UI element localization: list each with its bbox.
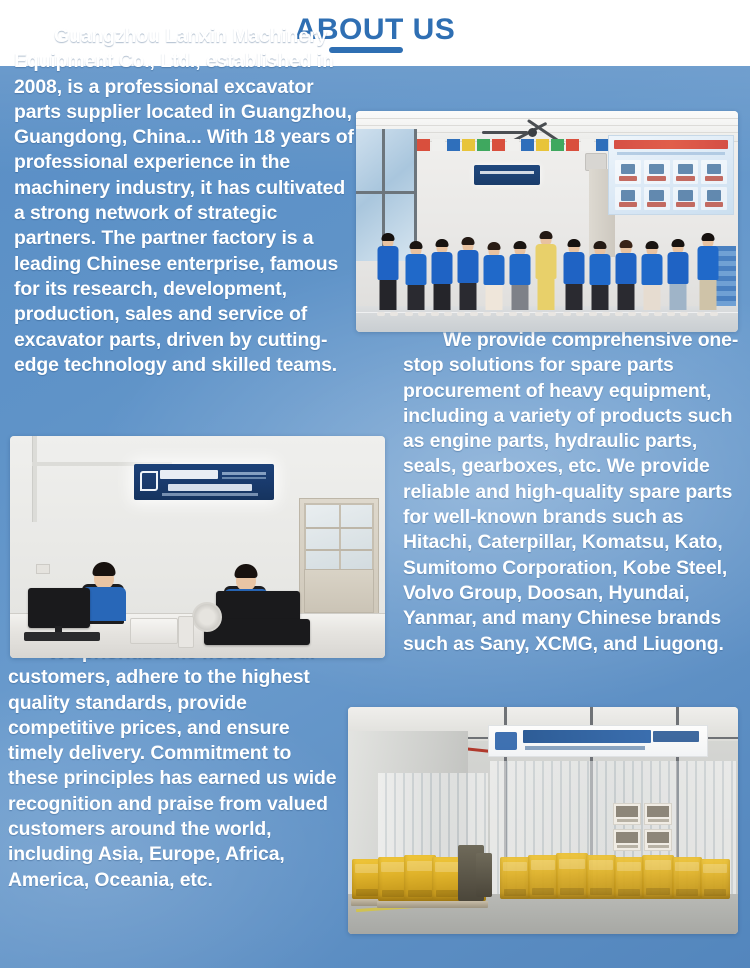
flag-bunting	[417, 139, 639, 151]
ceiling-fan-icon	[528, 128, 537, 137]
office-signboard	[134, 464, 274, 500]
team-member	[376, 234, 399, 312]
warehouse-company-banner	[488, 725, 708, 757]
machinery-unit	[476, 853, 492, 897]
monitor-left	[28, 588, 90, 628]
team-member	[614, 241, 637, 312]
office-printer	[130, 618, 178, 644]
company-signboard	[474, 165, 540, 185]
team-member	[404, 242, 427, 312]
excavator-engine	[642, 855, 674, 899]
paragraph-customer-commitment: We prioritize the needs of our customers…	[8, 640, 342, 893]
excavator-engine	[586, 855, 616, 899]
team-member	[588, 242, 611, 312]
team-member	[696, 234, 719, 312]
team-member	[534, 232, 557, 312]
engine-pallet	[457, 901, 488, 908]
excavator-engine	[700, 859, 730, 899]
team-member	[508, 242, 531, 312]
excavator-engine	[672, 857, 702, 899]
team-member	[456, 238, 479, 312]
keyboard-left	[24, 632, 100, 641]
wall-outlet	[36, 564, 50, 574]
team-member	[482, 243, 505, 312]
paragraph-products-brands: We provide comprehensive one-stop soluti…	[403, 328, 743, 657]
team-photo-inner	[356, 111, 738, 332]
excavator-engine	[556, 853, 588, 899]
excavator-engine	[528, 855, 558, 899]
wall-pipe	[32, 436, 37, 522]
office-cabinet	[299, 498, 379, 618]
about-us-page: ABOUT US Guangzhou Lanxin Machinery Equi…	[0, 0, 750, 968]
excavator-engine	[614, 857, 644, 899]
team-member	[430, 240, 453, 312]
office-photo	[10, 436, 385, 658]
corporate-culture-banner	[608, 135, 734, 215]
excavator-engine	[500, 857, 530, 899]
power-strip	[178, 616, 194, 648]
paragraph-company-intro: Guangzhou Lanxin Machinery Equipment Co.…	[14, 24, 356, 378]
office-photo-inner	[10, 436, 385, 658]
warehouse-photo	[348, 707, 738, 934]
team-member	[666, 240, 689, 312]
team-member	[562, 240, 585, 312]
team-member	[640, 242, 663, 312]
warehouse-photo-inner	[348, 707, 738, 934]
desk-fan	[192, 602, 222, 632]
team-photo	[356, 111, 738, 332]
